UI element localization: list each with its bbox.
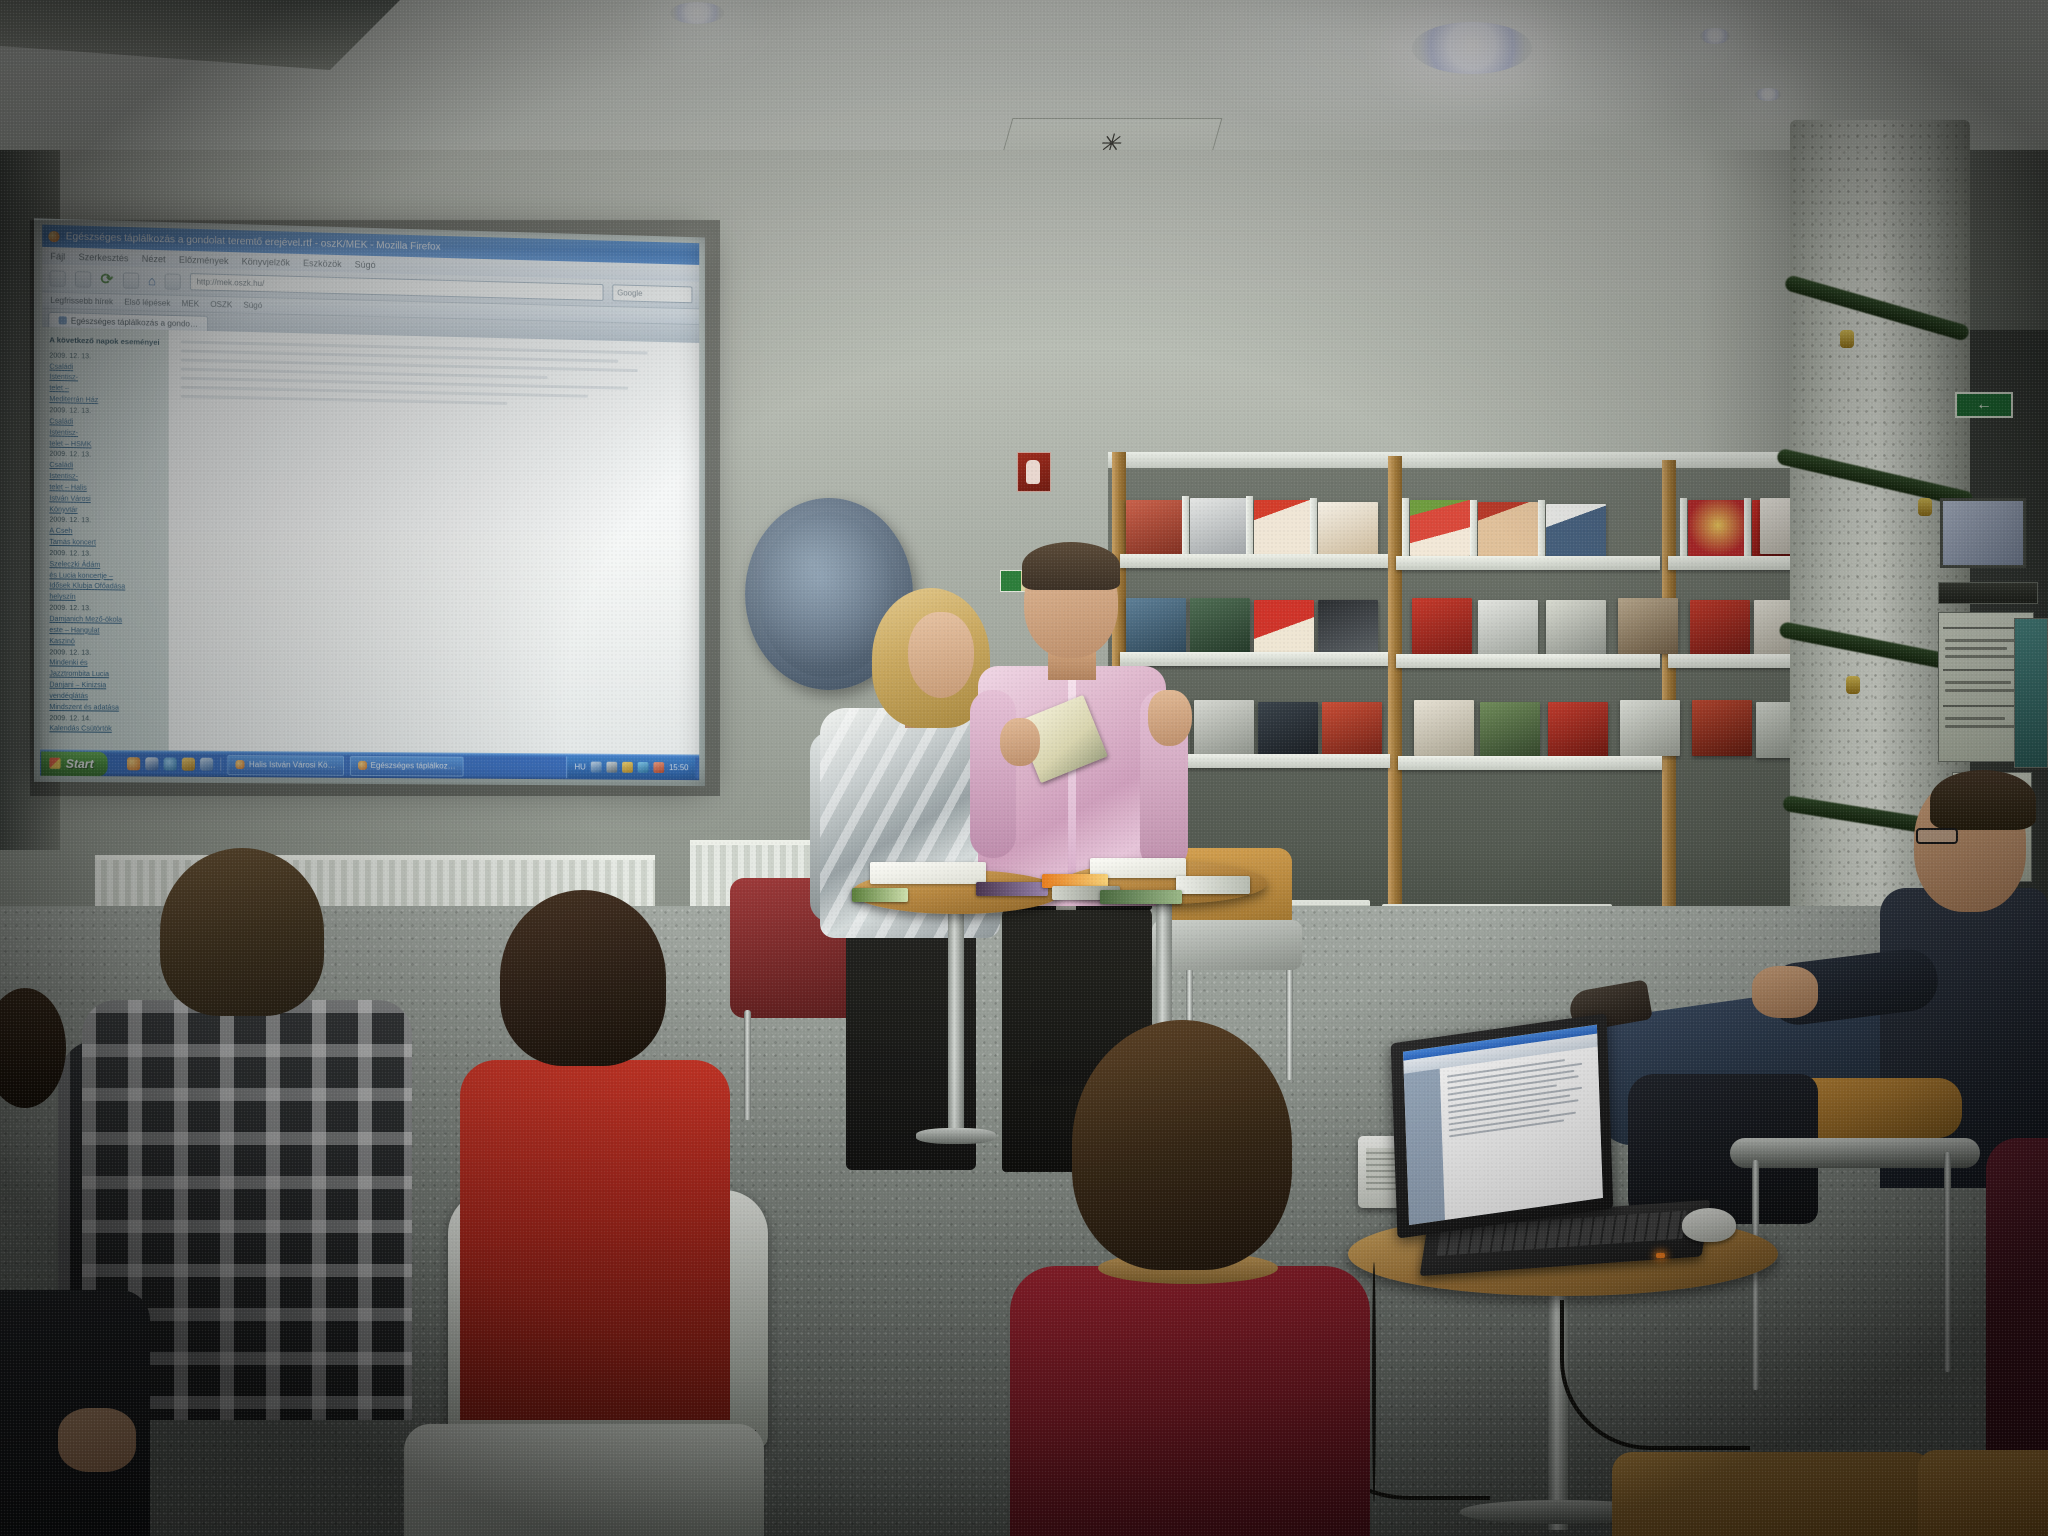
wall-display-panel	[1940, 498, 2026, 568]
computer-mouse[interactable]	[1682, 1208, 1736, 1242]
downlight-icon	[1412, 22, 1532, 74]
event-entry: 2009. 12. 14. Kalendás Csütörtök	[49, 714, 163, 737]
shield-icon[interactable]	[622, 762, 633, 773]
foreground-chair-frame	[1918, 1450, 2048, 1536]
back-button[interactable]	[49, 270, 65, 287]
audience-cropped-right	[1986, 1138, 2048, 1458]
stop-button[interactable]	[122, 272, 138, 289]
table-leg	[948, 900, 964, 1140]
rack-shelf-lip	[1668, 556, 1808, 570]
event-date: 2009. 12. 13.	[49, 407, 91, 415]
taskbar-window-label: Egészséges táplálkoz…	[371, 761, 456, 771]
system-tray: HU 15:50	[567, 756, 696, 779]
magazine-cover	[1194, 700, 1254, 756]
rack-shelf-lip	[1120, 652, 1388, 666]
magazine-cover	[1126, 598, 1186, 654]
magazine-cover	[1548, 702, 1608, 758]
presenter-hand	[1148, 690, 1192, 746]
chair-leg	[1752, 1160, 1759, 1390]
rack-top-shelf	[1108, 452, 1808, 468]
head	[500, 890, 666, 1066]
library-presentation-photo: ✳	[0, 0, 2048, 1536]
rack-shelf-lip	[1396, 556, 1660, 570]
event-date: 2009. 12. 13.	[49, 605, 91, 613]
page-main-column	[169, 330, 700, 758]
chair-frame-right	[1730, 1138, 1980, 1168]
event-entry: 2009. 12. 13. Mindenki és Jazztrombita L…	[49, 648, 163, 715]
bauble-icon	[1918, 498, 1932, 516]
event-date: 2009. 12. 14.	[49, 715, 91, 722]
magazine-cover	[1126, 500, 1186, 556]
event-date: 2009. 12. 13.	[49, 517, 91, 525]
menu-item-history[interactable]: Előzmények	[179, 254, 229, 265]
hands	[1752, 966, 1818, 1018]
taskbar-window-button[interactable]: Halis István Városi Kö…	[228, 754, 344, 775]
url-input[interactable]: http://mek.oszk.hu/	[190, 273, 603, 301]
downlight-icon	[1700, 28, 1730, 44]
presenter-face	[908, 612, 974, 698]
event-entry: 2009. 12. 13. Családi Istentisz- telet –…	[49, 406, 163, 452]
magazine-cover	[1258, 702, 1318, 758]
foreground-chair-frame	[1612, 1452, 1932, 1536]
rack-divider	[1470, 500, 1477, 560]
magazine-cover	[1688, 500, 1748, 556]
head	[160, 848, 324, 1016]
document-page	[1440, 1047, 1603, 1220]
magazine-cover	[1410, 500, 1470, 556]
notice-board-header	[1938, 582, 2038, 604]
presenter-hair	[1022, 542, 1120, 590]
magazine-cover	[1254, 500, 1314, 556]
magazine-cover	[1190, 498, 1250, 554]
sidebar-heading: A következő napok eseményei	[49, 335, 163, 348]
rack-divider	[1680, 498, 1687, 558]
rack-shelf-lip	[1120, 554, 1388, 568]
bookmark-star-icon[interactable]	[165, 273, 181, 290]
bookmark-oszk[interactable]: OSZK	[210, 300, 232, 310]
menu-item-tools[interactable]: Eszközök	[303, 258, 342, 269]
event-link[interactable]: vendéglátás	[49, 692, 163, 704]
windows-flag-icon	[49, 758, 60, 769]
exit-arrow-icon: ←	[1976, 397, 1992, 413]
event-date: 2009. 12. 13.	[49, 550, 91, 558]
menu-item-bookmarks[interactable]: Könyvjelzők	[242, 256, 290, 267]
firefox-icon	[48, 230, 59, 241]
exit-sign: ←	[1955, 392, 2013, 418]
chair-leg	[744, 1010, 751, 1120]
magazine-cover	[1322, 702, 1382, 758]
browser-icon[interactable]	[127, 757, 140, 770]
event-date: 2009. 12. 13.	[49, 451, 91, 459]
document-body	[1404, 1047, 1603, 1225]
bookmark-latest-news[interactable]: Legfrissebb hírek	[50, 296, 113, 307]
fire-extinguisher-glyph-icon	[1026, 460, 1040, 484]
projection-screen: Egészséges táplálkozás a gondolat teremt…	[34, 218, 705, 786]
foreground-chair-back[interactable]	[404, 1424, 764, 1536]
book	[1100, 890, 1182, 904]
burgundy-sweater	[1010, 1266, 1370, 1536]
firefox-icon	[358, 761, 367, 770]
event-entry: 2009. 12. 13. Damjanich Mező-ökola este …	[49, 604, 163, 649]
menu-item-edit[interactable]: Szerkesztés	[79, 251, 129, 262]
rack-divider	[1246, 496, 1253, 556]
magazine-cover	[1412, 598, 1472, 654]
book	[976, 882, 1048, 896]
menu-item-file[interactable]: Fájl	[50, 251, 65, 262]
presenter-arm	[970, 690, 1016, 858]
rack-divider	[1744, 498, 1751, 558]
magazine-cover	[1318, 600, 1378, 656]
menu-item-help[interactable]: Súgó	[355, 259, 376, 270]
globe-icon[interactable]	[164, 757, 177, 770]
magazine-cover	[1254, 600, 1314, 656]
magazine-cover	[1618, 598, 1678, 654]
event-link[interactable]: Mindszent és adatása	[49, 703, 163, 715]
event-date: 2009. 12. 13.	[49, 352, 91, 360]
presenter-hand	[1000, 718, 1040, 766]
magazine-cover	[1690, 600, 1750, 656]
magazine-cover	[1318, 502, 1378, 558]
windows-taskbar: Start Halis István Városi Kö… Egészséges…	[40, 749, 699, 780]
magazine-cover	[1692, 700, 1752, 756]
magazine-cover	[1620, 700, 1680, 756]
rack-divider	[1402, 498, 1409, 558]
explorer-icon[interactable]	[200, 758, 213, 771]
bauble-icon	[1846, 676, 1860, 694]
magazine-cover	[1546, 504, 1606, 560]
power-led-icon	[1656, 1253, 1665, 1258]
magazine-cover	[1546, 600, 1606, 656]
magazine-cover	[1414, 700, 1474, 756]
quick-launch-bar	[120, 757, 221, 771]
menu-item-view[interactable]: Nézet	[142, 253, 166, 264]
network-icon[interactable]	[591, 762, 602, 773]
document-gutter	[1404, 1069, 1445, 1225]
stacking-chair[interactable]	[1152, 920, 1302, 970]
red-sweater	[460, 1060, 730, 1420]
search-input[interactable]: Google	[612, 284, 692, 303]
eyeglasses-icon	[1916, 828, 1958, 844]
hair	[1930, 770, 2036, 830]
forward-button[interactable]	[75, 271, 91, 288]
firefox-window: Egészséges táplálkozás a gondolat teremt…	[42, 225, 699, 781]
rack-divider	[1182, 496, 1189, 556]
home-icon[interactable]: ⌂	[148, 274, 156, 287]
rack-shelf-lip	[1668, 654, 1808, 668]
clock[interactable]: 15:50	[669, 763, 689, 772]
rack-shelf-lip	[1398, 756, 1662, 770]
update-icon[interactable]	[653, 762, 664, 773]
event-entry: 2009. 12. 13. Családi Istentisz- telet –…	[49, 351, 163, 408]
firefox-icon	[236, 760, 245, 769]
language-indicator[interactable]: HU	[574, 762, 585, 771]
page-content: A következő napok eseményei 2009. 12. 13…	[42, 327, 699, 759]
laptop-screen	[1403, 1025, 1603, 1225]
rack-divider	[1310, 498, 1317, 558]
bookmark-help[interactable]: Súgó	[243, 301, 262, 311]
chair-leg	[1944, 1152, 1951, 1372]
notice-poster-teal	[2014, 618, 2048, 768]
magazine-cover	[1478, 502, 1538, 558]
start-button[interactable]: Start	[41, 751, 108, 776]
paper-stack	[870, 862, 986, 884]
bookmark-mek[interactable]: MEK	[182, 299, 200, 309]
magazine-cover	[1190, 598, 1250, 654]
event-entry: 2009. 12. 13. Családi Istentisz- telet –…	[49, 450, 163, 518]
magazine-cover	[1480, 702, 1540, 758]
taskbar-window-button[interactable]: Egészséges táplálkoz…	[350, 755, 464, 776]
rack-divider	[1538, 500, 1545, 560]
media-icon[interactable]	[182, 758, 195, 771]
bookmark-getting-started[interactable]: Első lépések	[124, 298, 170, 308]
rack-shelf-lip	[1396, 654, 1660, 668]
event-date: 2009. 12. 13.	[49, 649, 91, 657]
tab-label: Egészséges táplálkozás a gondo…	[71, 316, 198, 328]
downlight-icon	[670, 2, 724, 24]
head	[1072, 1020, 1292, 1270]
book	[852, 888, 908, 902]
page-icon	[59, 316, 67, 324]
start-label: Start	[66, 756, 94, 770]
table-foot	[916, 1128, 996, 1144]
hand	[58, 1408, 136, 1472]
bauble-icon	[1840, 330, 1854, 348]
taskbar-window-label: Halis István Városi Kö…	[249, 760, 336, 770]
laptop	[1391, 1013, 1614, 1238]
downlight-icon	[1755, 88, 1781, 101]
antivirus-icon[interactable]	[638, 762, 649, 773]
book	[1176, 876, 1250, 894]
word-icon[interactable]	[146, 757, 159, 770]
reload-icon[interactable]: ⟳	[100, 272, 113, 287]
event-link[interactable]: Kalendás Csütörtök	[49, 725, 163, 737]
page-sidebar: A következő napok eseményei 2009. 12. 13…	[42, 327, 168, 755]
event-entry: 2009. 12. 13. Szeleczki Ádám és Lucia ko…	[49, 549, 163, 605]
magazine-cover	[1478, 600, 1538, 656]
event-entry: 2009. 12. 13. A Cseh Tamás koncert	[49, 516, 163, 551]
volume-icon[interactable]	[606, 762, 617, 773]
chair-leg	[1286, 960, 1293, 1080]
event-link[interactable]: Kaszinó	[49, 637, 163, 649]
